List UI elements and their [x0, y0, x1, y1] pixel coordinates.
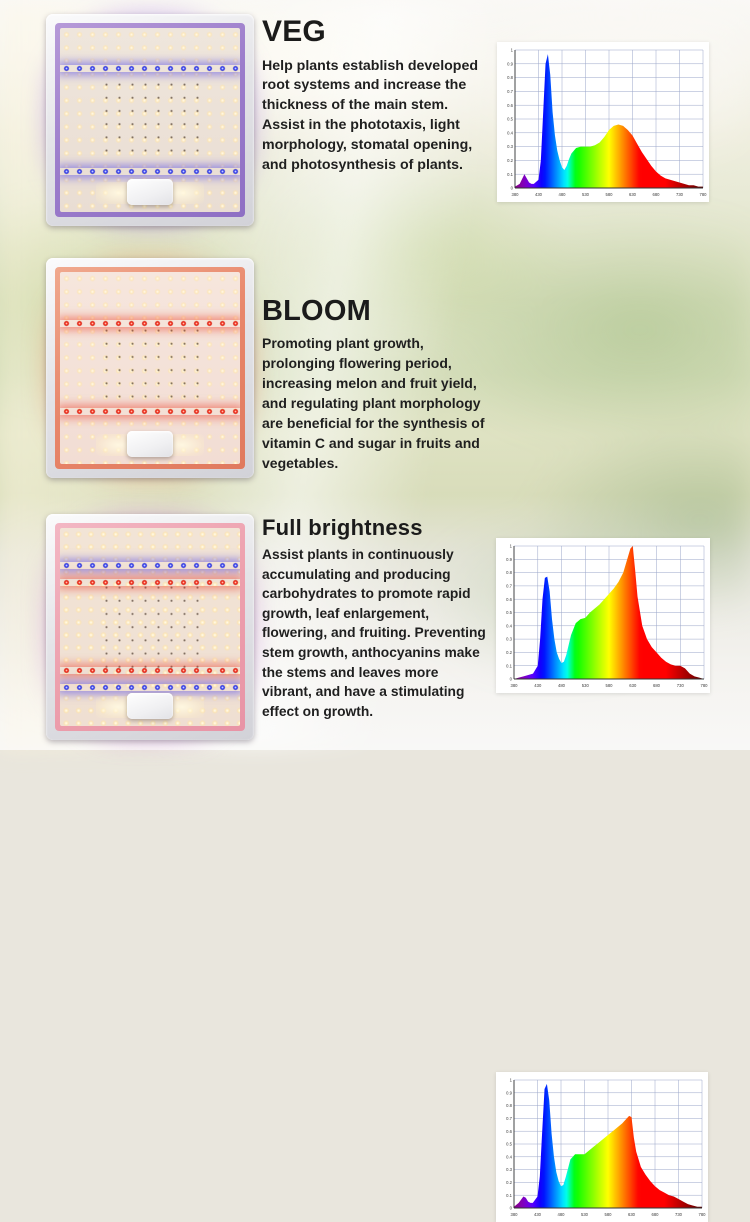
- blue-led-strip: [60, 168, 240, 175]
- svg-text:0.9: 0.9: [507, 61, 513, 66]
- svg-text:0.5: 0.5: [507, 117, 513, 122]
- blue-led-strip: [60, 65, 240, 72]
- section-heading: BLOOM: [262, 296, 490, 326]
- text-block-full-brightness: Full brightness Assist plants in continu…: [262, 516, 490, 721]
- svg-text:480: 480: [559, 192, 567, 197]
- driver-box: [127, 431, 173, 457]
- section-body: Promoting plant growth, prolonging flowe…: [262, 334, 490, 473]
- svg-text:380: 380: [512, 192, 520, 197]
- led-board: [60, 272, 240, 464]
- led-board: [60, 28, 240, 212]
- sections-container: VEG Help plants establish developed root…: [0, 0, 750, 750]
- red-led-strip: [60, 579, 240, 586]
- section-heading: VEG: [262, 16, 490, 48]
- svg-text:0.3: 0.3: [507, 144, 513, 149]
- driver-box: [127, 179, 173, 205]
- led-board: [60, 528, 240, 726]
- svg-text:730: 730: [675, 1212, 683, 1217]
- svg-text:580: 580: [606, 192, 614, 197]
- spectrum-chart-veg: 38043048053058063068073078000.10.20.30.4…: [497, 42, 709, 202]
- red-led-strip: [60, 667, 240, 674]
- led-chip-zone: [100, 78, 201, 159]
- panel-bezel: [55, 267, 245, 469]
- spectrum-chart-full-brightness: 38043048053058063068073078000.10.20.30.4…: [496, 1072, 708, 1222]
- section-veg: VEG Help plants establish developed root…: [0, 0, 750, 248]
- svg-text:0.7: 0.7: [506, 1116, 512, 1121]
- svg-text:0.7: 0.7: [507, 89, 513, 94]
- svg-text:0.4: 0.4: [506, 1154, 512, 1159]
- svg-text:630: 630: [628, 1212, 636, 1217]
- svg-text:480: 480: [558, 1212, 566, 1217]
- section-bloom: BLOOM Promoting plant growth, prolonging…: [0, 248, 750, 502]
- blue-led-strip: [60, 684, 240, 691]
- svg-text:780: 780: [700, 192, 708, 197]
- section-heading: Full brightness: [262, 516, 490, 539]
- text-block-bloom: BLOOM Promoting plant growth, prolonging…: [262, 296, 490, 474]
- svg-text:0.5: 0.5: [506, 1142, 512, 1147]
- text-block-veg: VEG Help plants establish developed root…: [262, 16, 490, 176]
- led-chip-zone: [100, 324, 201, 408]
- section-full-brightness: Full brightness Assist plants in continu…: [0, 502, 750, 750]
- svg-text:730: 730: [676, 192, 684, 197]
- svg-text:0.8: 0.8: [506, 1103, 512, 1108]
- svg-text:0.1: 0.1: [506, 1193, 512, 1198]
- panel-bezel: [55, 23, 245, 217]
- svg-text:530: 530: [581, 1212, 589, 1217]
- svg-text:430: 430: [535, 192, 543, 197]
- svg-text:0.6: 0.6: [507, 103, 513, 108]
- led-panel-veg: [46, 14, 254, 226]
- section-body: Help plants establish developed root sys…: [262, 57, 490, 176]
- svg-text:530: 530: [582, 192, 590, 197]
- red-led-strip: [60, 408, 240, 415]
- svg-text:0.1: 0.1: [507, 172, 513, 177]
- svg-text:630: 630: [629, 192, 637, 197]
- svg-text:0.8: 0.8: [507, 75, 513, 80]
- red-led-strip: [60, 320, 240, 327]
- svg-text:0.2: 0.2: [506, 1180, 512, 1185]
- svg-text:430: 430: [534, 1212, 542, 1217]
- svg-text:680: 680: [652, 1212, 660, 1217]
- svg-text:0.9: 0.9: [506, 1090, 512, 1095]
- svg-text:380: 380: [511, 1212, 519, 1217]
- blue-led-strip: [60, 562, 240, 569]
- section-body: Assist plants in continuously accumulati…: [262, 545, 490, 721]
- panel-bezel: [55, 523, 245, 731]
- svg-text:580: 580: [605, 1212, 613, 1217]
- driver-box: [127, 693, 173, 719]
- svg-text:0.3: 0.3: [506, 1167, 512, 1172]
- svg-text:0.2: 0.2: [507, 158, 513, 163]
- led-panel-full: [46, 514, 254, 740]
- svg-text:680: 680: [653, 192, 661, 197]
- led-panel-bloom: [46, 258, 254, 478]
- svg-text:0.4: 0.4: [507, 130, 513, 135]
- svg-text:780: 780: [699, 1212, 707, 1217]
- svg-text:0.6: 0.6: [506, 1129, 512, 1134]
- led-chip-zone: [100, 581, 201, 668]
